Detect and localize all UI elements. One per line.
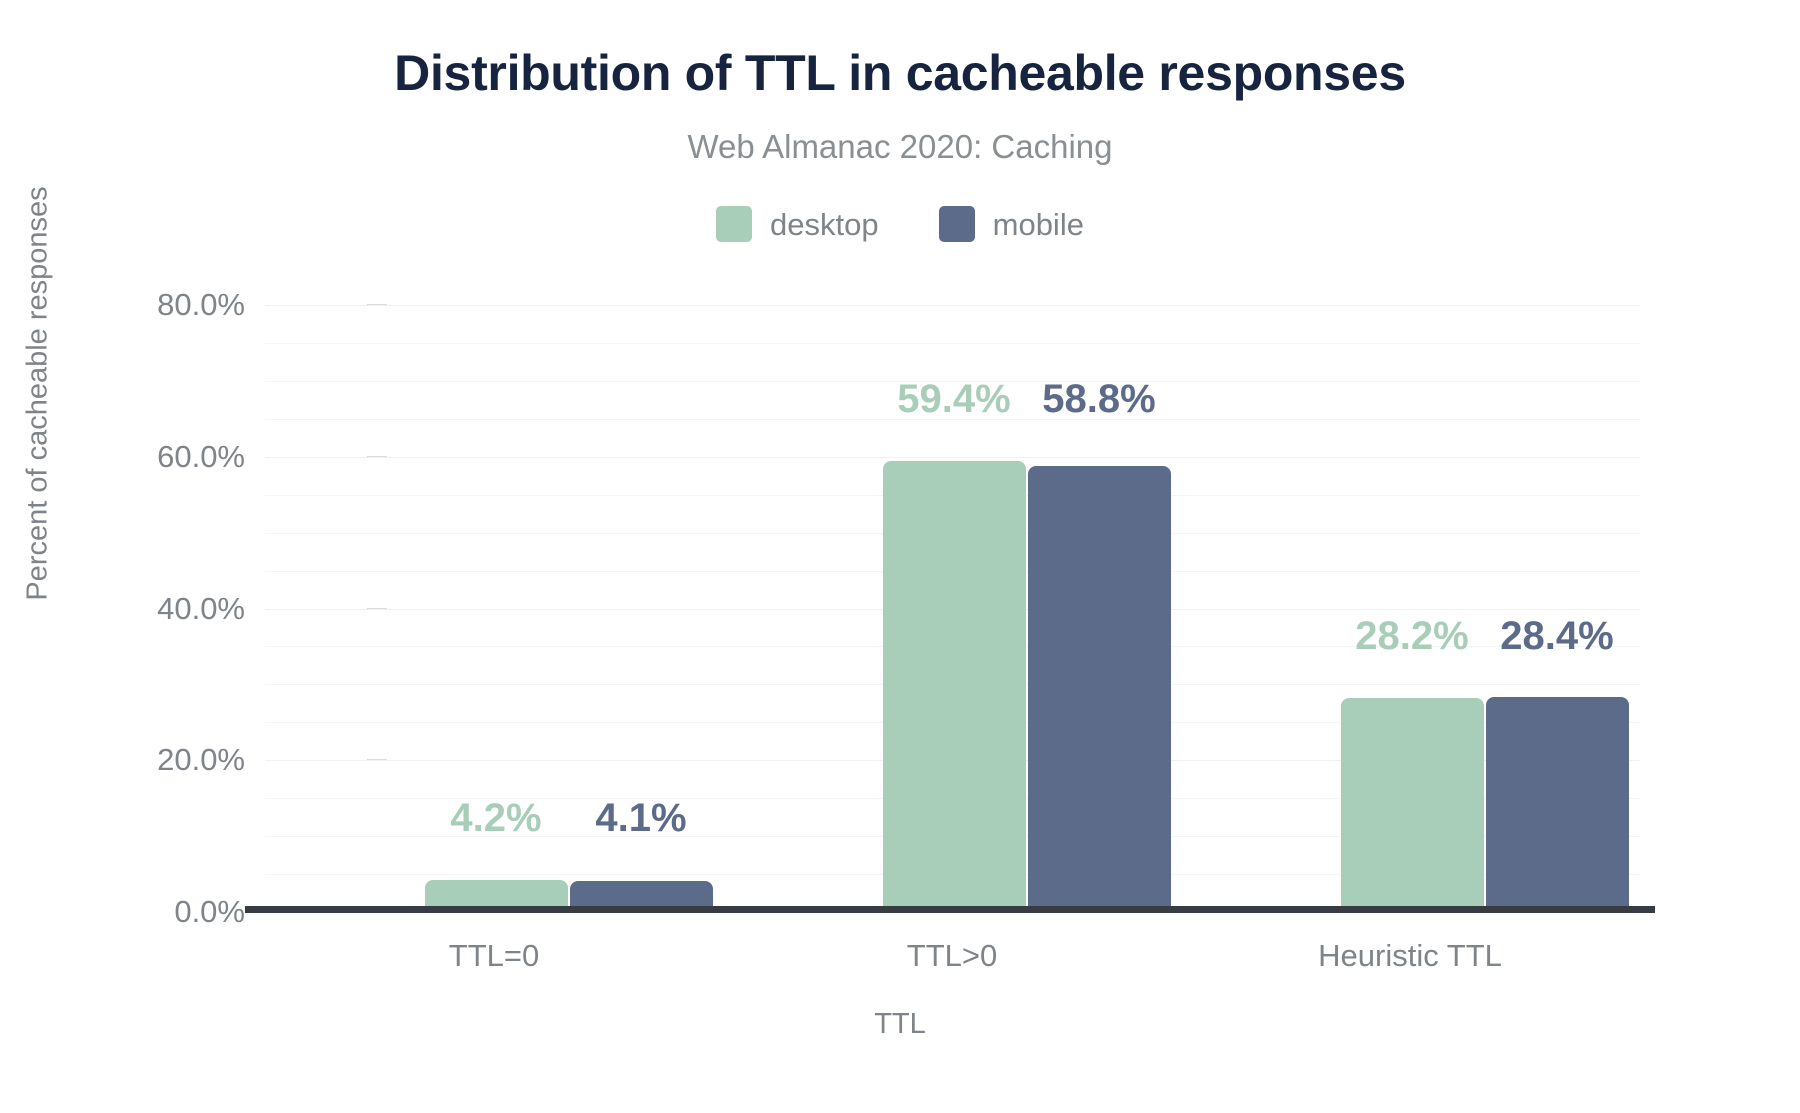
y-axis-title: Percent of cacheable responses xyxy=(22,144,55,644)
bar-group-heuristic-ttl: 28.2% 28.4% xyxy=(1181,305,1639,912)
legend-label-desktop: desktop xyxy=(770,209,879,240)
legend-swatch-desktop-icon xyxy=(716,206,752,242)
bar-value-ttl-greater-0-desktop: 59.4% xyxy=(897,377,1010,422)
bar-group-ttl-equals-0: 4.2% 4.1% xyxy=(265,305,723,912)
x-tick-label-ttl-greater-0: TTL>0 xyxy=(907,938,997,974)
x-axis-title: TTL xyxy=(0,1008,1800,1041)
legend-label-mobile: mobile xyxy=(993,209,1084,240)
legend-item-mobile[interactable]: mobile xyxy=(939,206,1084,242)
chart-legend: desktop mobile xyxy=(0,206,1800,242)
y-tick-label-80: 80.0% xyxy=(157,287,245,323)
bar-value-heuristic-ttl-desktop: 28.2% xyxy=(1355,614,1468,659)
legend-swatch-mobile-icon xyxy=(939,206,975,242)
bar-heuristic-ttl-desktop[interactable] xyxy=(1341,698,1484,912)
x-tick-label-ttl-equals-0: TTL=0 xyxy=(449,938,539,974)
chart-title: Distribution of TTL in cacheable respons… xyxy=(0,44,1800,102)
y-tick-label-60: 60.0% xyxy=(157,439,245,475)
y-tick-label-20: 20.0% xyxy=(157,742,245,778)
y-axis-ticks: 80.0% 60.0% 40.0% 20.0% 0.0% xyxy=(115,305,245,912)
legend-item-desktop[interactable]: desktop xyxy=(716,206,879,242)
bar-ttl-greater-0-desktop[interactable] xyxy=(883,461,1026,912)
chart-subtitle: Web Almanac 2020: Caching xyxy=(0,128,1800,166)
x-axis-line xyxy=(245,906,1655,913)
bar-value-ttl-equals-0-desktop: 4.2% xyxy=(450,796,541,841)
bar-group-ttl-greater-0: 59.4% 58.8% xyxy=(723,305,1181,912)
y-tick-label-40: 40.0% xyxy=(157,591,245,627)
bar-heuristic-ttl-mobile[interactable] xyxy=(1486,697,1629,912)
chart-container: Distribution of TTL in cacheable respons… xyxy=(0,0,1800,1113)
x-tick-label-heuristic-ttl: Heuristic TTL xyxy=(1318,938,1502,974)
bar-value-heuristic-ttl-mobile: 28.4% xyxy=(1500,614,1613,659)
bar-value-ttl-greater-0-mobile: 58.8% xyxy=(1042,377,1155,422)
bar-value-ttl-equals-0-mobile: 4.1% xyxy=(595,796,686,841)
bar-ttl-greater-0-mobile[interactable] xyxy=(1028,466,1171,912)
plot-area: 4.2% 4.1% 59.4% 58.8% 28.2% 28.4% xyxy=(265,305,1640,912)
y-tick-label-0: 0.0% xyxy=(174,894,245,930)
